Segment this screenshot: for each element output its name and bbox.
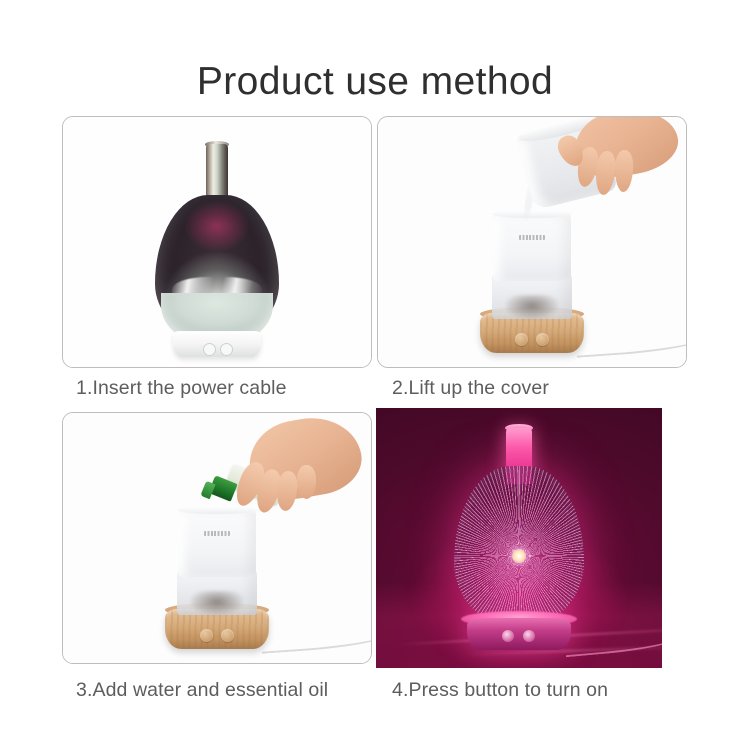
step-caption-4: 4.Press button to turn on	[392, 679, 608, 702]
infographic-page: Product use method	[0, 0, 750, 750]
step-panel-2[interactable]	[377, 116, 687, 368]
water-tank-lip	[492, 210, 572, 218]
light-button-icon	[221, 629, 234, 642]
power-cord	[575, 328, 687, 357]
step-panel-4[interactable]	[376, 408, 662, 668]
tank-inner-shadow	[191, 591, 243, 615]
light-core	[512, 549, 526, 563]
light-button-icon	[536, 333, 549, 346]
light-button-icon	[523, 630, 535, 642]
step-caption-1: 1.Insert the power cable	[76, 377, 287, 400]
steps-grid	[0, 0, 750, 750]
mist-button-icon	[515, 333, 528, 346]
wood-base	[165, 609, 269, 649]
tank-inner-shadow	[506, 295, 558, 319]
finger	[614, 150, 633, 193]
diffuser-base-lit	[467, 618, 571, 650]
step-2-photo	[378, 117, 686, 367]
water-tank	[178, 509, 256, 577]
water-tank-lip	[177, 506, 257, 514]
step-panel-3[interactable]	[62, 412, 372, 664]
diffuser-glass-body-lit	[454, 466, 584, 626]
step-4-photo	[376, 408, 662, 668]
wood-base	[480, 313, 584, 353]
brand-logo-mark	[204, 531, 230, 536]
step-panel-1[interactable]	[62, 116, 372, 368]
essential-oil-bottle-cap	[200, 481, 215, 500]
power-button-icon	[203, 343, 216, 356]
step-1-photo	[63, 117, 371, 367]
water-tank	[493, 213, 571, 281]
mist-button-icon	[200, 629, 213, 642]
mist-button-icon	[502, 630, 514, 642]
diffuser-white-base	[173, 331, 261, 357]
step-caption-3: 3.Add water and essential oil	[76, 679, 328, 702]
light-button-icon	[220, 343, 233, 356]
firework-starburst-pattern-secondary	[454, 466, 584, 626]
power-cord	[260, 624, 372, 653]
step-caption-2: 2.Lift up the cover	[392, 377, 549, 400]
brand-logo-mark	[519, 235, 545, 240]
step-3-photo	[63, 413, 371, 663]
